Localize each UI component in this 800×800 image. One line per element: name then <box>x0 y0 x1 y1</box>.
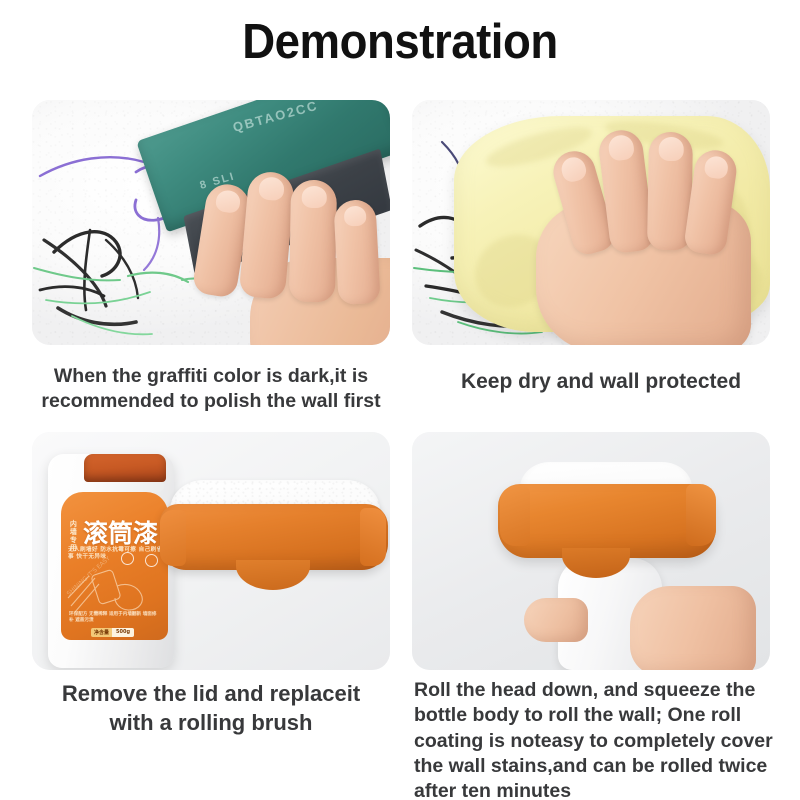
roller-brush-head <box>160 480 388 630</box>
hand-holding-sponge <box>194 166 390 345</box>
fingernail <box>302 186 327 208</box>
demo-panel-3: 内墙专用 滚筒漆 无人刷墙好 防水抗霉可擦 自己刷省事 快干无异味 SHININ… <box>32 432 390 670</box>
palm <box>630 586 756 670</box>
finger-ring <box>289 180 337 303</box>
label-weight-value: 500g <box>112 628 134 637</box>
bottle-label: 内墙专用 滚筒漆 无人刷墙好 防水抗霉可擦 自己刷省事 快干无异味 SHININ… <box>61 492 168 640</box>
fingernail <box>215 189 242 214</box>
fingernail <box>607 134 635 162</box>
bottle-cap <box>84 454 166 482</box>
panel-2-caption: Keep dry and wall protected <box>408 368 794 395</box>
roller-frame <box>498 484 716 558</box>
fingernail <box>258 176 285 201</box>
label-weight-tag: 净含量 <box>91 628 112 637</box>
hand-wiping-cloth <box>508 124 758 339</box>
roller-arm-right <box>360 508 386 566</box>
panel-1-caption: When the graffiti color is dark,it is re… <box>18 364 404 415</box>
roller-stem-connector <box>562 548 630 578</box>
fingernail <box>344 205 367 226</box>
demo-panel-2 <box>412 100 770 345</box>
panel-4-caption: Roll the head down, and squeeze the bott… <box>414 678 792 800</box>
thumb <box>524 598 588 642</box>
roller-arm-left <box>160 510 186 566</box>
finger-pinky <box>333 199 380 305</box>
fingernail <box>703 155 729 180</box>
roller-arm-right <box>686 484 716 546</box>
demo-panel-1: QBTAO2CC 8 SLI <box>32 100 390 345</box>
panel-3-caption: Remove the lid and replaceit with a roll… <box>18 679 404 738</box>
roller-stem-connector <box>236 560 310 590</box>
label-weight-badge: 净含量 500g <box>91 628 134 637</box>
label-badge-circle-1 <box>121 552 134 565</box>
label-product-name: 滚筒漆 <box>83 514 158 550</box>
fingernail <box>559 154 589 184</box>
page-title: Demonstration <box>28 14 772 70</box>
demo-panel-4 <box>412 432 770 670</box>
sponge-print-line-1: QBTAO2CC <box>231 100 320 135</box>
fingernail <box>659 137 684 161</box>
label-badge-circle-2 <box>145 554 158 567</box>
paint-bottle: 内墙专用 滚筒漆 无人刷墙好 防水抗霉可擦 自己刷省事 快干无异味 SHININ… <box>48 454 174 668</box>
label-footer-text: 环保配方 无需稀释 适用于内墙翻新 墙面修补 遮盖污渍 <box>69 612 161 624</box>
roller-arm-left <box>500 486 530 546</box>
svg-text:SHINING IT'S EASY: SHINING IT'S EASY <box>66 556 112 597</box>
infographic-page: Demonstration <box>0 0 800 800</box>
hand-squeezing-bottle <box>522 582 752 670</box>
